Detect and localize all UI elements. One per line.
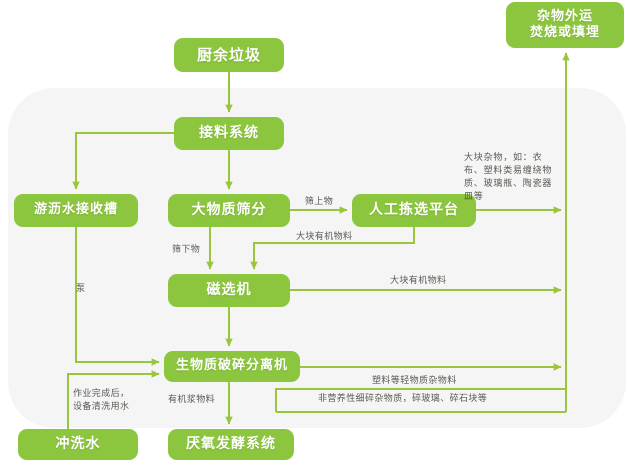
label-bulk-impurities-note: 大块杂物，如：衣 布、塑料类易缠绕物 质、玻璃瓶、陶瓷器 皿等 [464,152,558,204]
node-coarse-screening[interactable]: 大物质筛分 [168,194,290,227]
label-non-nutritive-fines: 非营养性细碎杂物质，碎玻璃、碎石块等 [318,393,554,406]
label-large-organic-to-magnetic: 大块有机物料 [296,231,376,244]
label-large-organic-right: 大块有机物料 [390,275,470,288]
node-anaerobic-digestion[interactable]: 厌氧发酵系统 [168,429,294,460]
node-manual-sorting[interactable]: 人工拣选平台 [352,194,476,227]
label-organic-slurry: 有机浆物料 [168,394,236,407]
node-magnetic-separator[interactable]: 磁选机 [168,274,290,307]
node-biomass-crusher[interactable]: 生物质破碎分离机 [164,351,300,382]
node-offsite-disposal[interactable]: 杂物外运 焚烧或填埋 [506,2,624,48]
process-area-panel [8,88,626,428]
node-leachate-tank[interactable]: 游沥水接收槽 [14,194,138,227]
flowchart-canvas: 厨余垃圾 杂物外运 焚烧或填埋 接料系统 游沥水接收槽 大物质筛分 人工拣选平台… [0,0,640,463]
label-under-screen-material: 筛下物 [172,244,218,257]
node-kitchen-waste[interactable]: 厨余垃圾 [174,38,284,72]
label-plastic-light-impurity: 塑料等轻物质杂物料 [372,375,492,388]
label-on-screen-material: 筛上物 [296,196,342,209]
node-receiving-system[interactable]: 接料系统 [174,117,284,150]
label-pump: 泵 [76,283,96,296]
label-equipment-wash-water: 作业完成后， 设备清洗用水 [73,388,157,414]
node-flush-water[interactable]: 冲洗水 [18,429,138,460]
